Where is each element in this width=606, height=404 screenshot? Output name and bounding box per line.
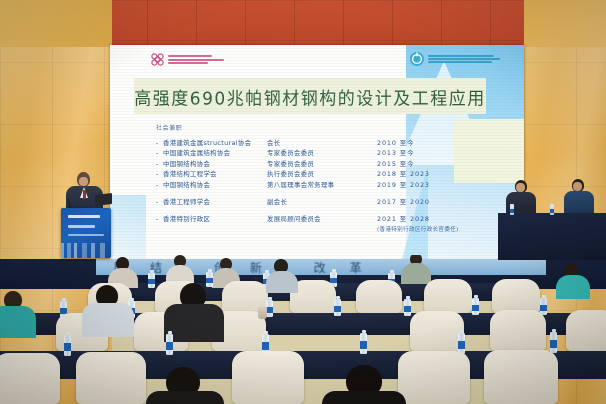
slide-row-org: 中国建筑金属结构协会	[163, 148, 267, 158]
podium-area	[55, 168, 117, 260]
attendee-body	[401, 263, 431, 284]
attendee-body	[322, 391, 406, 404]
speaker-podium	[61, 208, 111, 258]
water-bottle	[166, 334, 173, 355]
slide-row: -中国建筑金属结构协会专家委员会委员2013 至今	[156, 148, 514, 158]
slide-row-bullet: -	[156, 180, 163, 190]
slide-row-bullet: -	[156, 169, 163, 179]
audience-chair	[410, 311, 464, 351]
slide-row-bullet: -	[156, 214, 163, 224]
slide-row-bullet: -	[156, 159, 163, 169]
water-bottle	[472, 298, 479, 315]
slide-row-role: 执行委员会委员	[267, 169, 377, 179]
slide-row-org: 香港工程师学会	[163, 197, 267, 207]
panelist-face	[573, 182, 582, 191]
attendee-body	[164, 304, 224, 342]
attendee-body	[146, 391, 224, 404]
slide-title-band: 高强度690兆帕钢材钢构的设计及工程应用	[134, 78, 486, 114]
hong-kong-polytechnic-university-logo	[150, 52, 224, 67]
water-bottle	[266, 300, 273, 317]
audience-chair	[566, 310, 606, 351]
slide-row-yr: 2021 至 2028	[377, 214, 451, 224]
podium-branding-line	[68, 215, 100, 218]
association-name-text	[428, 55, 500, 63]
audience-chair	[492, 279, 540, 313]
audience-chair	[76, 352, 146, 404]
podium-laptop	[95, 193, 112, 206]
audience-chair	[356, 280, 402, 313]
attendee-body	[0, 306, 36, 338]
upper-wall-left-corner	[0, 0, 112, 47]
slide-row: -香港建筑金属structural协会会长2010 至今	[156, 138, 514, 148]
water-bottle	[334, 299, 341, 316]
slide-row-org: 中国钢结构协会	[163, 159, 267, 169]
slide-row: -香港结构工程学会执行委员会委员2018 至 2023	[156, 169, 514, 179]
audience-chair	[490, 310, 546, 351]
panelist-body	[564, 191, 594, 213]
audience-chair	[484, 350, 558, 404]
projection-screen: 高强度690兆帕钢材钢构的设计及工程应用 社会兼职 -香港建筑金属structu…	[110, 45, 524, 259]
association-emblem-icon	[409, 51, 425, 67]
water-bottle	[550, 332, 557, 353]
podium-branding-line	[68, 225, 95, 228]
audience-chair	[424, 279, 472, 313]
audience-chair	[232, 351, 304, 404]
paper-cup	[258, 307, 267, 319]
slide-row-yr: 2010 至今	[377, 138, 451, 148]
slide-row: -中国钢结构协会第八届理事会常务理事2019 至 2023	[156, 180, 514, 190]
slide-row-org: 香港结构工程学会	[163, 169, 267, 179]
slide-row-bullet: -	[156, 197, 163, 207]
slide-row-role: 第八届理事会常务理事	[267, 180, 377, 190]
speaker-face	[79, 177, 88, 186]
podium-branding-line	[68, 234, 104, 236]
slide-logo-row	[130, 50, 510, 74]
water-bottle	[550, 204, 554, 215]
attendee-body	[82, 303, 134, 337]
audience-chair	[0, 353, 60, 404]
slide-subnote: (香港特别行政区行政长官委任)	[377, 225, 514, 233]
slide-row-bullet: -	[156, 148, 163, 158]
slide-row-yr: 2019 至 2023	[377, 180, 451, 190]
water-bottle	[206, 272, 213, 287]
water-bottle	[360, 333, 367, 354]
slide-row: -香港工程师学会副会长2017 至 2020	[156, 197, 514, 207]
water-bottle	[510, 204, 514, 215]
slide-body: 社会兼职 -香港建筑金属structural协会会长2010 至今-中国建筑金属…	[156, 123, 514, 233]
attendee-body	[556, 275, 590, 299]
panel-table	[498, 213, 606, 260]
audience-chair	[398, 351, 470, 404]
slide-row-yr: 2013 至今	[377, 148, 451, 158]
slide-row-role: 专家委员会委员	[267, 159, 377, 169]
slide-row: -中国钢结构协会专家委员会委员2015 至今	[156, 159, 514, 169]
slide-row: -香港特别行政区发展局顾问委员会2021 至 2028	[156, 214, 514, 224]
slide-body-heading: 社会兼职	[156, 123, 514, 132]
conference-hall-photo: 高强度690兆帕钢材钢构的设计及工程应用 社会兼职 -香港建筑金属structu…	[0, 0, 606, 404]
university-name-text	[168, 55, 224, 63]
slide-row-org: 香港建筑金属structural协会	[163, 138, 267, 148]
university-emblem-icon	[150, 52, 165, 67]
water-bottle	[64, 335, 71, 356]
slide-row-yr: 2017 至 2020	[377, 197, 451, 207]
chinese-engineering-association-logo	[409, 51, 500, 67]
slide-row-role: 会长	[267, 138, 377, 148]
speaker-tie	[83, 190, 86, 199]
water-bottle	[404, 299, 411, 316]
slide-row-org: 中国钢结构协会	[163, 180, 267, 190]
slide-row-list: -香港建筑金属structural协会会长2010 至今-中国建筑金属结构协会专…	[156, 138, 514, 225]
slide-row-role: 发展局顾问委员会	[267, 214, 377, 224]
slide-row-role: 专家委员会委员	[267, 148, 377, 158]
upper-wall-right-corner	[524, 0, 606, 47]
slide-row-bullet: -	[156, 138, 163, 148]
water-bottle	[148, 273, 155, 288]
slide-row-role: 副会长	[267, 197, 377, 207]
panelist-face	[516, 183, 525, 192]
slide-title: 高强度690兆帕钢材钢构的设计及工程应用	[134, 83, 485, 109]
audience-seating	[0, 255, 606, 404]
slide-row-org: 香港特别行政区	[163, 214, 267, 224]
slide-row-yr: 2015 至今	[377, 159, 451, 169]
attendee-body	[266, 271, 298, 293]
slide-row-yr: 2018 至 2023	[377, 169, 451, 179]
